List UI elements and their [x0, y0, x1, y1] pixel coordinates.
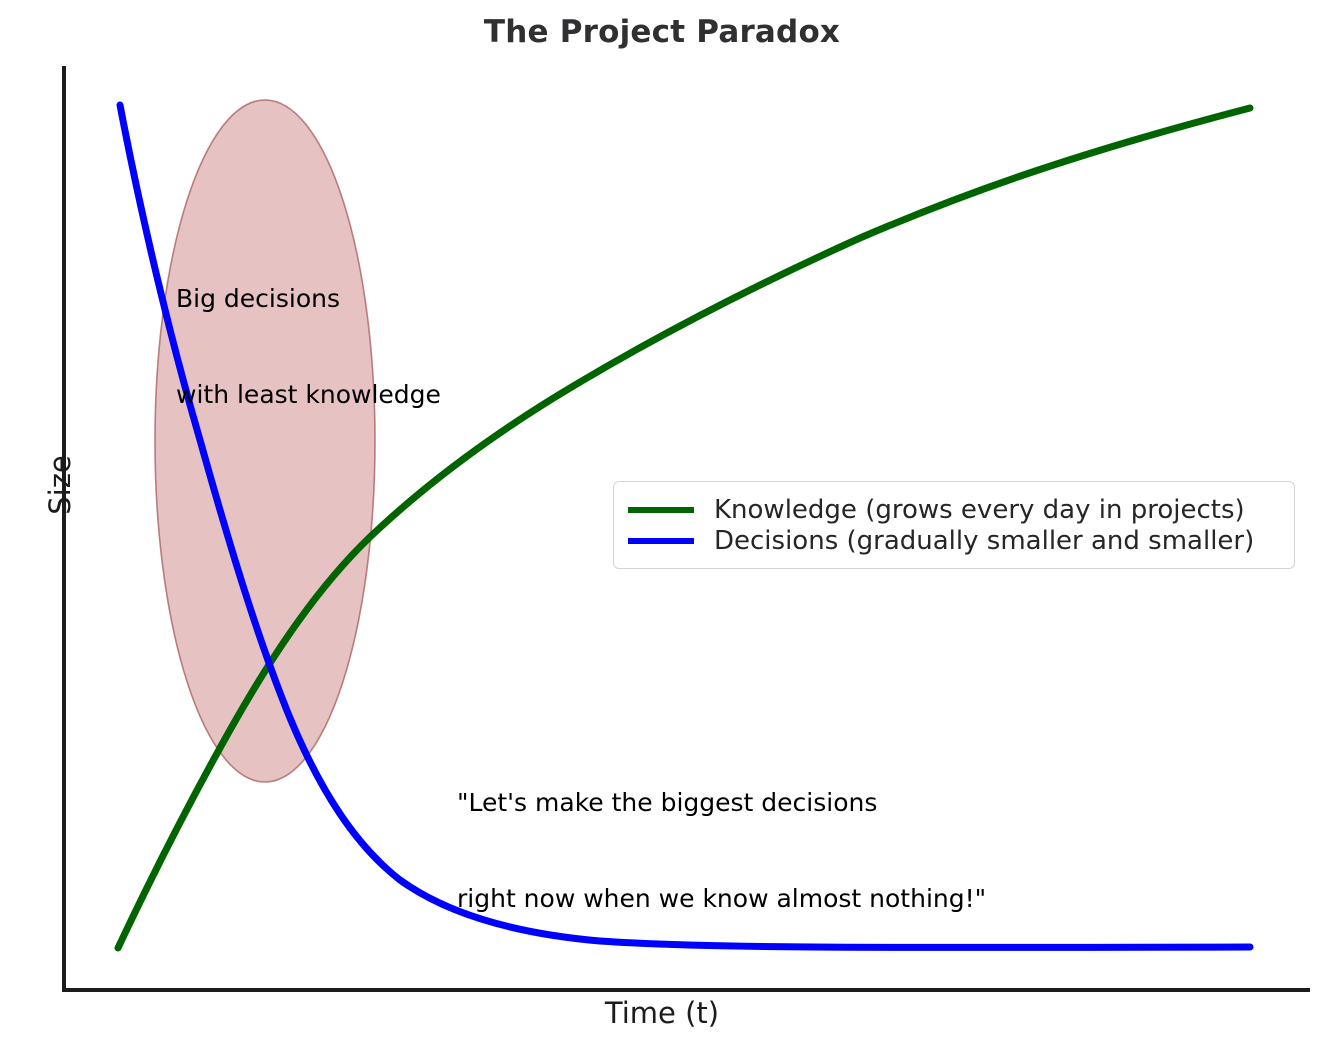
annotation-big-decisions-line2: with least knowledge	[176, 379, 441, 411]
chart-legend[interactable]: Knowledge (grows every day in projects) …	[613, 481, 1295, 569]
legend-item-knowledge[interactable]: Knowledge (grows every day in projects)	[628, 494, 1278, 525]
x-axis-label: Time (t)	[0, 996, 1324, 1030]
legend-label-knowledge: Knowledge (grows every day in projects)	[714, 495, 1245, 525]
annotation-big-decisions: Big decisions with least knowledge	[176, 219, 441, 475]
legend-swatch-decisions	[628, 538, 694, 544]
legend-item-decisions[interactable]: Decisions (gradually smaller and smaller…	[628, 525, 1278, 556]
legend-label-decisions: Decisions (gradually smaller and smaller…	[714, 526, 1254, 556]
annotation-quote-line1: "Let's make the biggest decisions	[457, 787, 986, 819]
annotation-quote: "Let's make the biggest decisions right …	[457, 723, 986, 979]
legend-swatch-knowledge	[628, 507, 694, 513]
annotation-quote-line2: right now when we know almost nothing!"	[457, 883, 986, 915]
chart-canvas: The Project Paradox Big decisions with l…	[0, 0, 1324, 1054]
annotation-big-decisions-line1: Big decisions	[176, 283, 441, 315]
y-axis-label: Size	[43, 425, 77, 545]
